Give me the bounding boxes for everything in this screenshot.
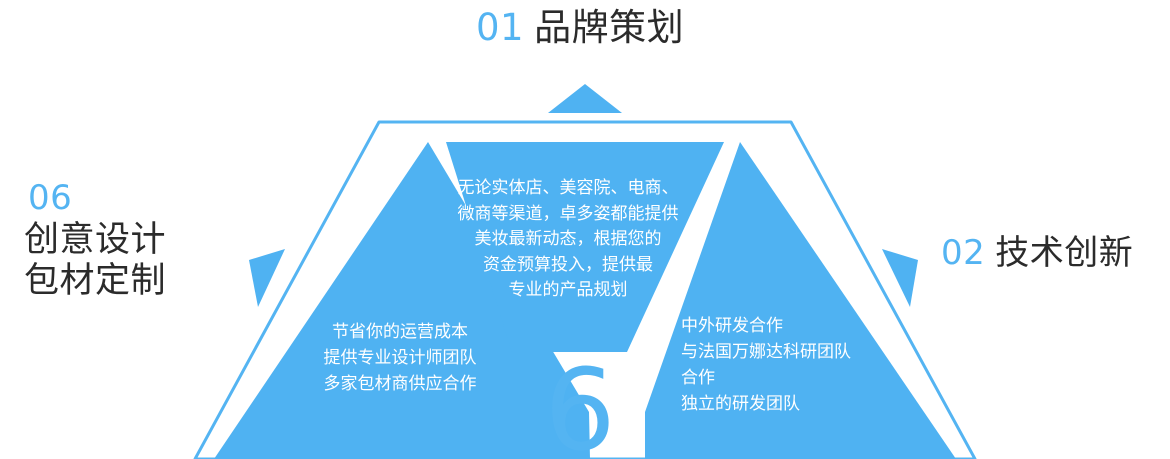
segment-center-text: 无论实体店、美容院、电商、 微商等渠道，卓多姿都能提供 美妆最新动态，根据您的 … bbox=[432, 176, 704, 304]
label-left-number: 06 bbox=[28, 176, 166, 220]
arrow-up-left-icon bbox=[249, 249, 285, 307]
infographic-canvas: 01品牌策划 02技术创新 06 创意设计 包材定制 无论实体店、美容院、电商、… bbox=[0, 0, 1170, 459]
label-right: 02技术创新 bbox=[941, 232, 1133, 274]
label-right-title: 技术创新 bbox=[995, 233, 1133, 273]
segment-center-line: 资金预算投入，提供最 bbox=[432, 253, 704, 279]
segment-left-line: 提供专业设计师团队 bbox=[296, 345, 504, 371]
segment-left-line: 节省你的运营成本 bbox=[296, 319, 504, 345]
segment-center-line: 专业的产品规划 bbox=[432, 278, 704, 304]
label-top-title: 品牌策划 bbox=[534, 6, 684, 49]
segment-right-line: 独立的研发团队 bbox=[681, 391, 871, 417]
segment-center-line: 无论实体店、美容院、电商、 bbox=[432, 176, 704, 202]
segment-right-line: 中外研发合作 bbox=[681, 313, 871, 339]
segment-right-line: 合作 bbox=[681, 365, 871, 391]
label-left-title-line2: 包材定制 bbox=[24, 261, 166, 302]
segment-center-line: 美妆最新动态，根据您的 bbox=[432, 227, 704, 253]
segment-center-line: 微商等渠道，卓多姿都能提供 bbox=[432, 202, 704, 228]
label-top-number: 01 bbox=[476, 6, 524, 49]
center-number: 6 bbox=[520, 355, 640, 459]
label-right-number: 02 bbox=[941, 233, 985, 273]
arrow-up-icon bbox=[548, 84, 622, 113]
label-top: 01品牌策划 bbox=[476, 6, 684, 50]
segment-left-line: 多家包材商供应合作 bbox=[296, 371, 504, 397]
segment-right-text: 中外研发合作 与法国万娜达科研团队 合作 独立的研发团队 bbox=[681, 313, 871, 417]
segment-left-text: 节省你的运营成本 提供专业设计师团队 多家包材商供应合作 bbox=[296, 319, 504, 397]
label-left: 06 创意设计 包材定制 bbox=[24, 176, 166, 302]
label-left-title-line1: 创意设计 bbox=[24, 220, 166, 261]
segment-right-line: 与法国万娜达科研团队 bbox=[681, 339, 871, 365]
